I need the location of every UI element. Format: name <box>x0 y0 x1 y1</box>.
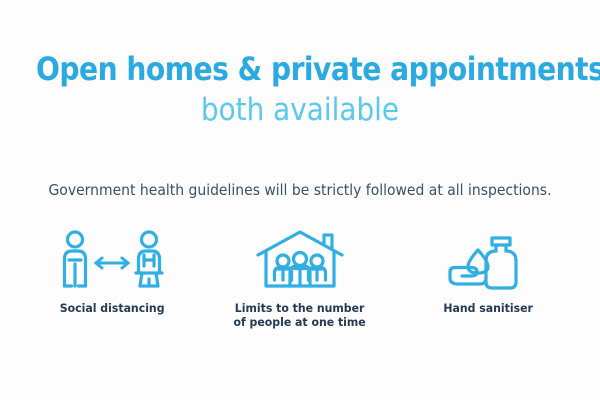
page-subtitle: both available <box>30 92 570 128</box>
feature-item-hand-sanitiser: Hand sanitiser <box>400 226 576 329</box>
feature-label: Hand sanitiser <box>443 301 533 315</box>
social-distancing-icon <box>56 230 168 292</box>
feature-icon-wrap <box>56 226 168 292</box>
hand-sanitiser-icon <box>440 228 536 292</box>
headline-block: Open homes & private appointments both a… <box>0 50 600 128</box>
feature-icon-wrap <box>252 226 348 292</box>
house-with-people-icon <box>252 228 348 292</box>
feature-label-line1: Limits to the number <box>235 301 365 315</box>
page-title: Open homes & private appointments <box>36 50 564 88</box>
feature-item-social-distancing: Social distancing <box>24 226 200 329</box>
tagline: Government health guidelines will be str… <box>21 180 579 200</box>
feature-label-line1: Hand sanitiser <box>443 301 533 315</box>
feature-label: Social distancing <box>60 301 165 315</box>
feature-label-line1: Social distancing <box>60 301 165 315</box>
feature-item-capacity-limit: Limits to the number of people at one ti… <box>212 226 388 329</box>
feature-label-line2: of people at one time <box>234 315 366 329</box>
feature-row: Social distancing <box>0 226 600 329</box>
promo-poster: Open homes & private appointments both a… <box>0 0 600 400</box>
feature-icon-wrap <box>440 226 536 292</box>
feature-label: Limits to the number of people at one ti… <box>234 301 366 329</box>
